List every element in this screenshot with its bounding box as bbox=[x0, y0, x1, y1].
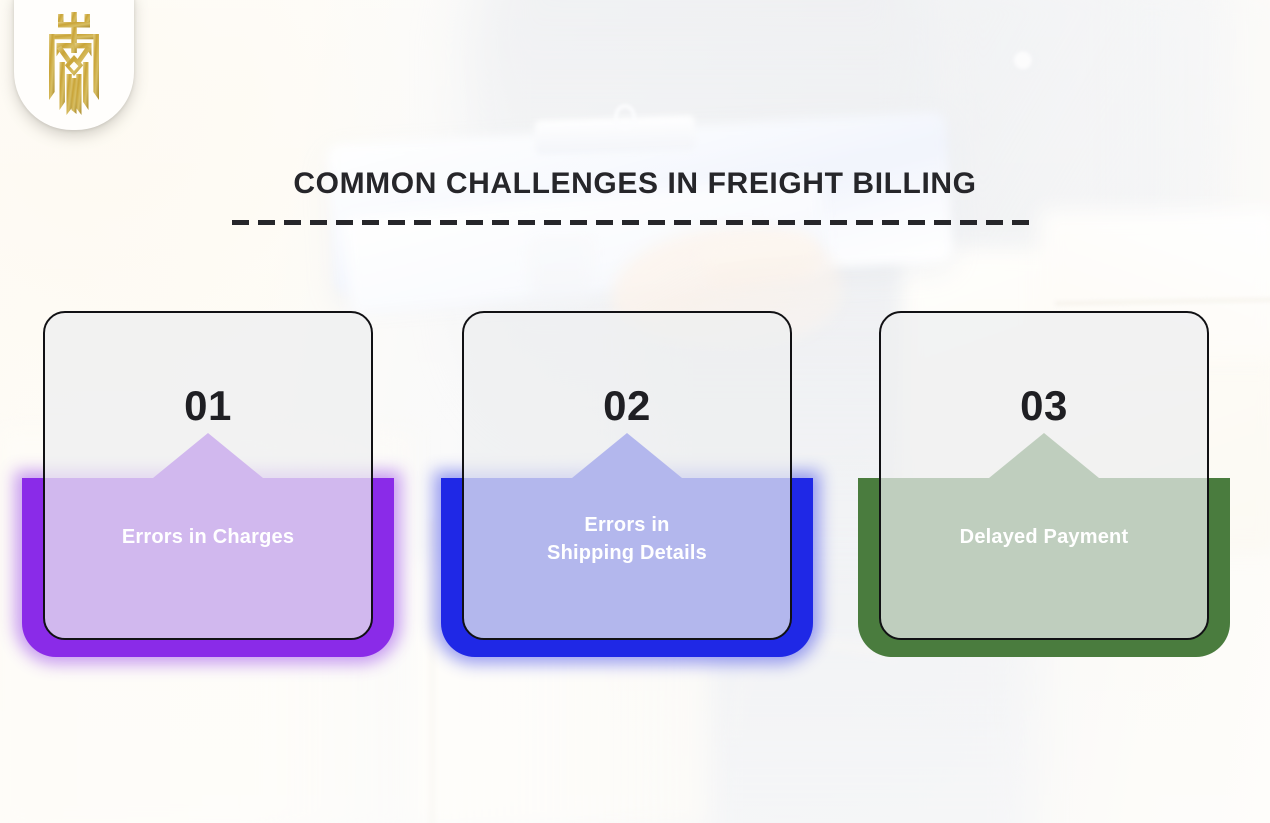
card-number: 01 bbox=[184, 385, 232, 427]
challenge-card-02[interactable]: 02 Errors in Shipping Details bbox=[462, 311, 792, 640]
card-label: Delayed Payment bbox=[879, 523, 1209, 551]
card-label-line-1: Errors in bbox=[478, 511, 776, 539]
card-content: 01 Errors in Charges bbox=[43, 311, 373, 640]
card-label: Errors in Shipping Details bbox=[462, 511, 792, 568]
card-label-line-2: Shipping Details bbox=[478, 539, 776, 567]
card-label: Errors in Charges bbox=[43, 523, 373, 551]
challenge-cards: 01 Errors in Charges 02 Errors in Shippi… bbox=[0, 0, 1270, 823]
card-number: 02 bbox=[603, 385, 651, 427]
challenge-card-03[interactable]: 03 Delayed Payment bbox=[879, 311, 1209, 640]
card-content: 02 Errors in Shipping Details bbox=[462, 311, 792, 640]
card-number: 03 bbox=[1020, 385, 1068, 427]
challenge-card-01[interactable]: 01 Errors in Charges bbox=[43, 311, 373, 640]
card-content: 03 Delayed Payment bbox=[879, 311, 1209, 640]
